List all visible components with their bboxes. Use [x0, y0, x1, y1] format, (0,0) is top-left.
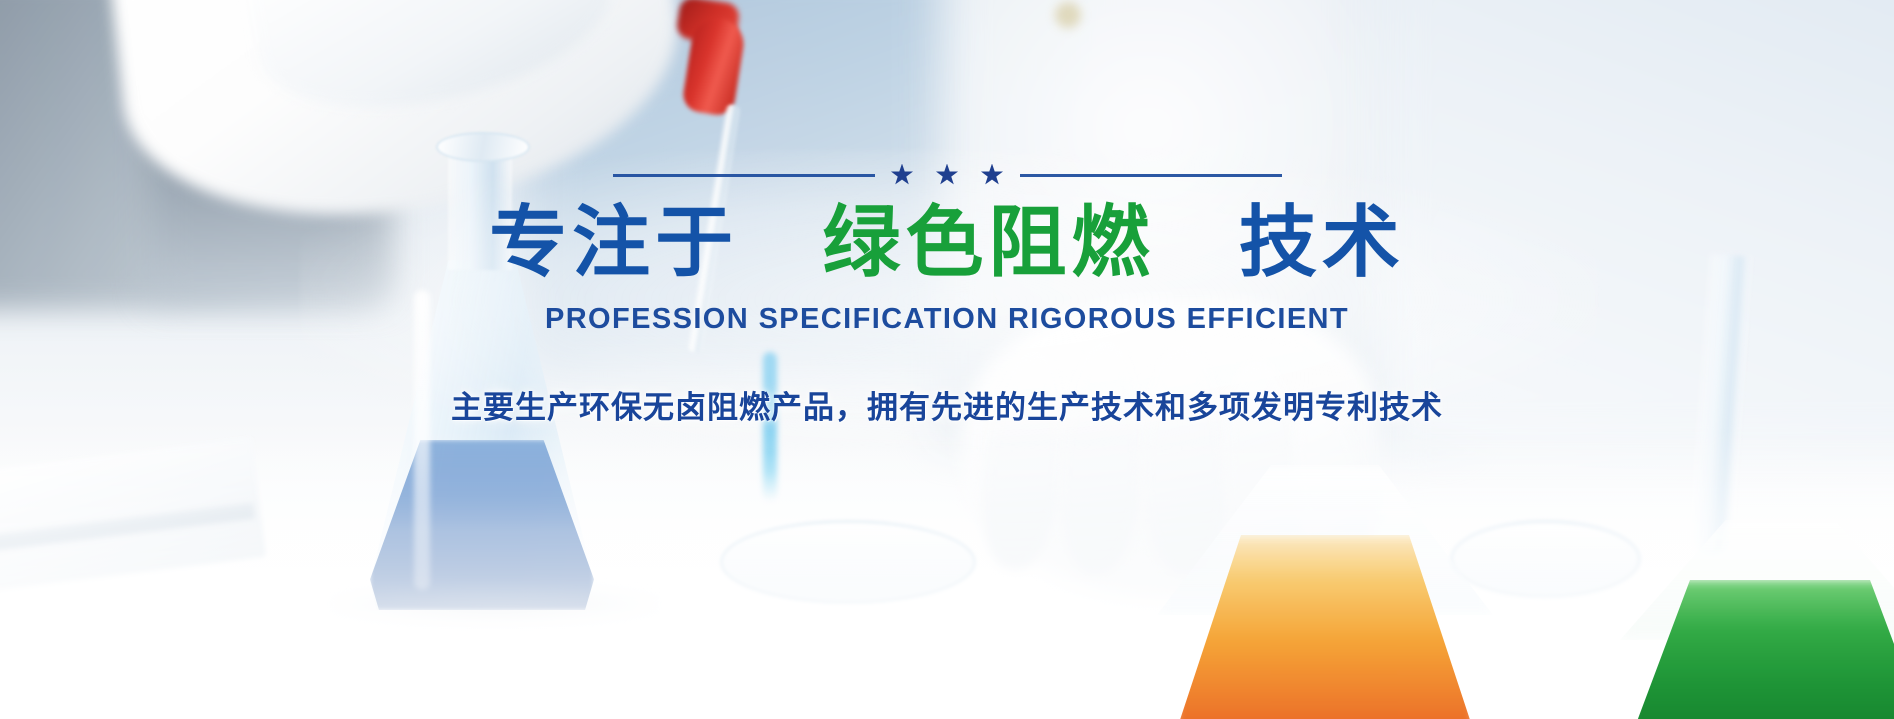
star-icon: [891, 164, 914, 187]
orange-liquid-flask: [1175, 535, 1475, 719]
star-icon: [981, 164, 1004, 187]
banner-headline: 专注于 绿色阻燃 技术: [0, 200, 1894, 287]
headline-part-3: 技术: [1239, 198, 1405, 288]
star-group: [891, 164, 1004, 187]
banner-subtitle: PROFESSION SPECIFICATION RIGOROUS EFFICI…: [0, 303, 1894, 336]
green-liquid-flask: [1630, 580, 1894, 719]
star-divider: [0, 158, 1894, 192]
banner-tagline: 主要生产环保无卤阻燃产品，拥有先进的生产技术和多项发明专利技术: [0, 382, 1894, 427]
table-surface-glare: [0, 430, 1894, 719]
banner-content: 专注于 绿色阻燃 技术 PROFESSION SPECIFICATION RIG…: [0, 158, 1894, 427]
divider-rule-right: [1020, 174, 1282, 177]
divider-rule-left: [613, 174, 875, 177]
headline-part-1: 专注于: [489, 198, 738, 288]
star-icon: [936, 164, 959, 187]
hero-banner: 专注于 绿色阻燃 技术 PROFESSION SPECIFICATION RIG…: [0, 0, 1894, 719]
lab-coat-button: [1055, 2, 1081, 28]
headline-part-2: 绿色阻燃: [822, 198, 1154, 288]
